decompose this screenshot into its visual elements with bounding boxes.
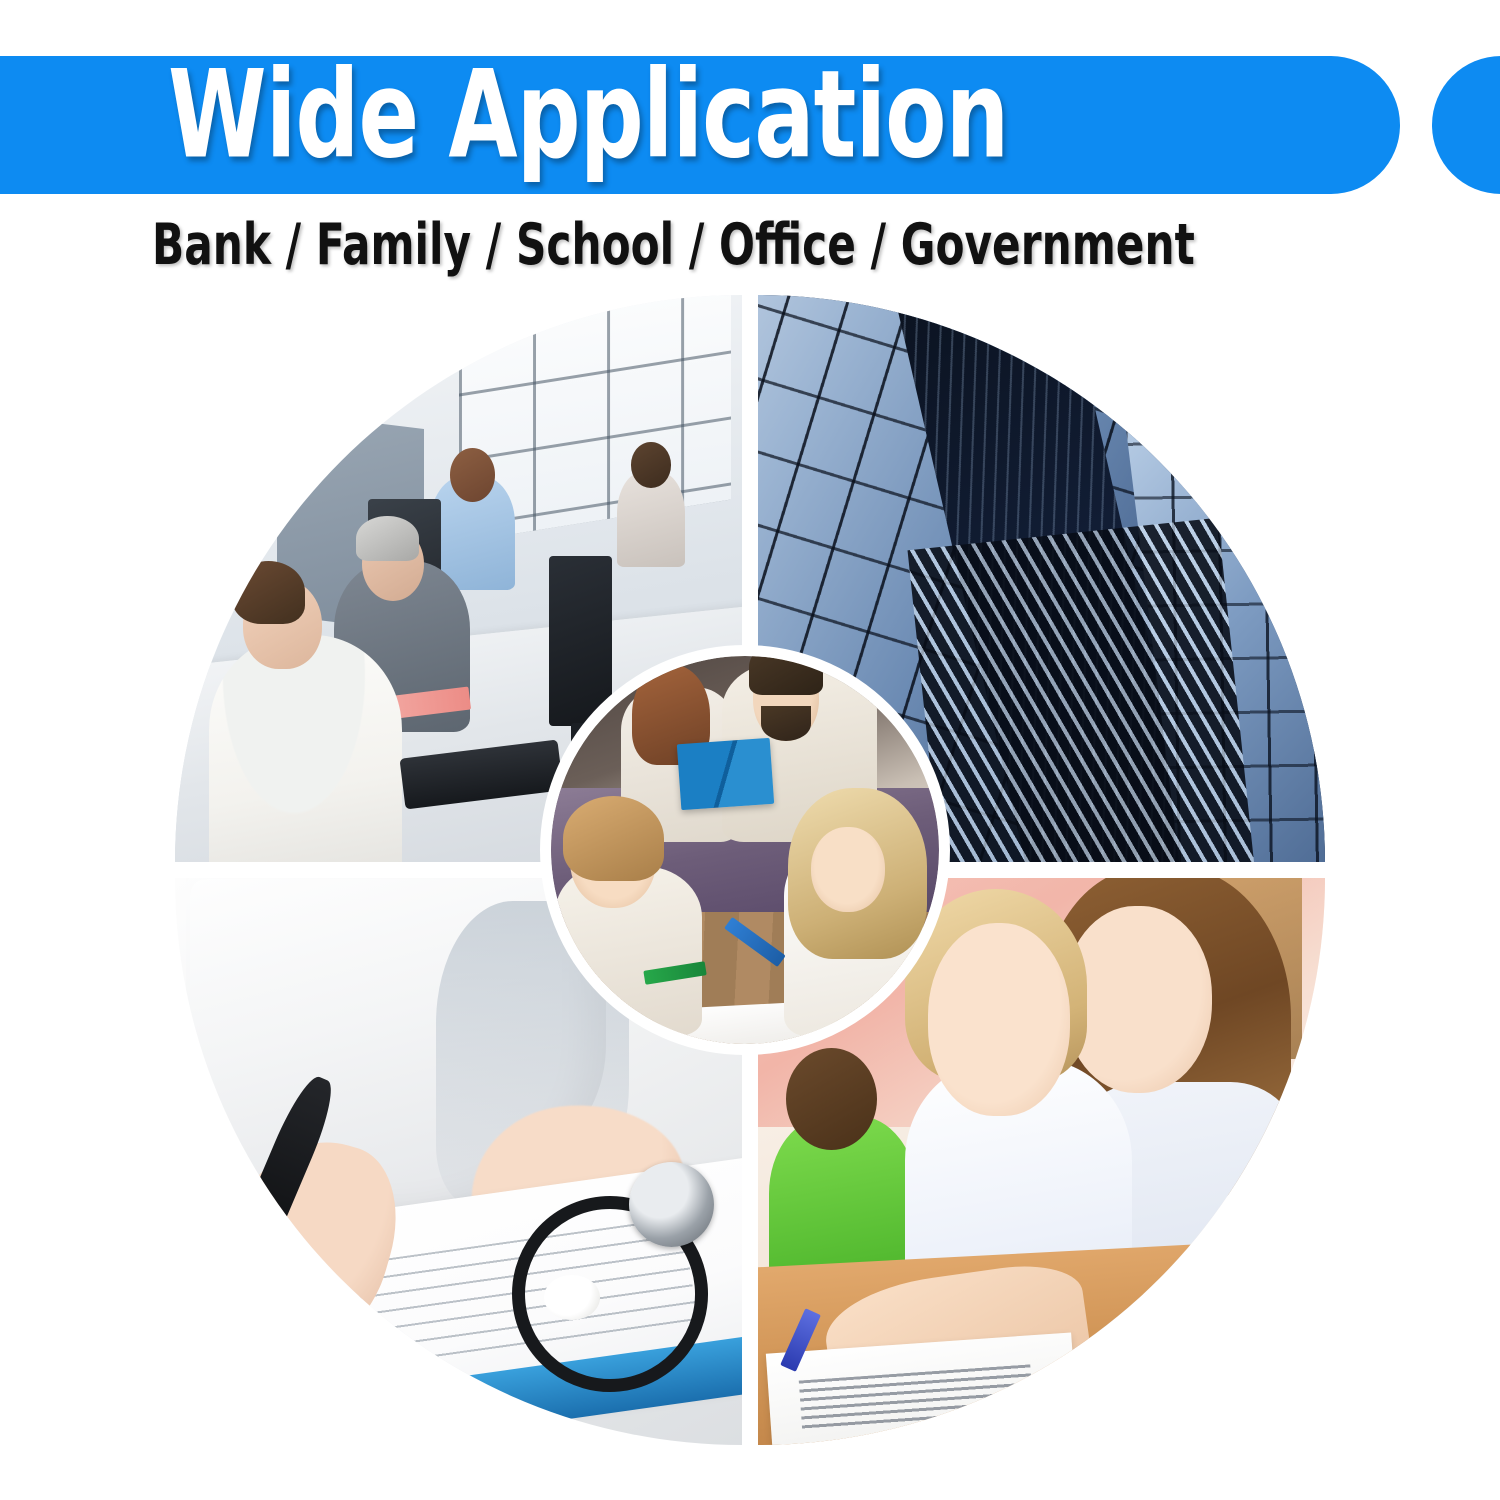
- office-worker-foreground: [209, 635, 402, 862]
- boy-hair: [563, 796, 664, 881]
- header-banner: Wide Application: [0, 56, 1500, 194]
- open-blue-book: [677, 738, 774, 810]
- stethoscope-chestpiece: [629, 1162, 714, 1247]
- banner-pill-secondary: [1432, 56, 1500, 194]
- page-title: Wide Application: [168, 56, 1008, 177]
- collage-center-family: [540, 645, 950, 1055]
- father-beard: [761, 706, 811, 741]
- page-subtitle: Bank / Family / School / Office / Govern…: [152, 216, 1195, 273]
- application-scenarios-collage: [175, 295, 1325, 1445]
- stethoscope-earpiece: [544, 1275, 601, 1320]
- office-worker-foreground-hair: [232, 561, 306, 623]
- girl-head: [811, 827, 885, 912]
- office-worker-senior-hair: [356, 516, 418, 561]
- family-photo-frame: [551, 656, 939, 1044]
- wide-application-marketing-image: { "header": { "title": "Wide Application…: [0, 0, 1500, 1500]
- father-hair: [749, 656, 823, 695]
- office-worker-background-head: [450, 448, 495, 502]
- building-louver-fins: [908, 518, 1261, 862]
- office-worker-far-right-head: [631, 442, 671, 487]
- student-left-head: [786, 1048, 877, 1150]
- student-center-head: [928, 923, 1070, 1116]
- family-scene: [551, 656, 939, 1044]
